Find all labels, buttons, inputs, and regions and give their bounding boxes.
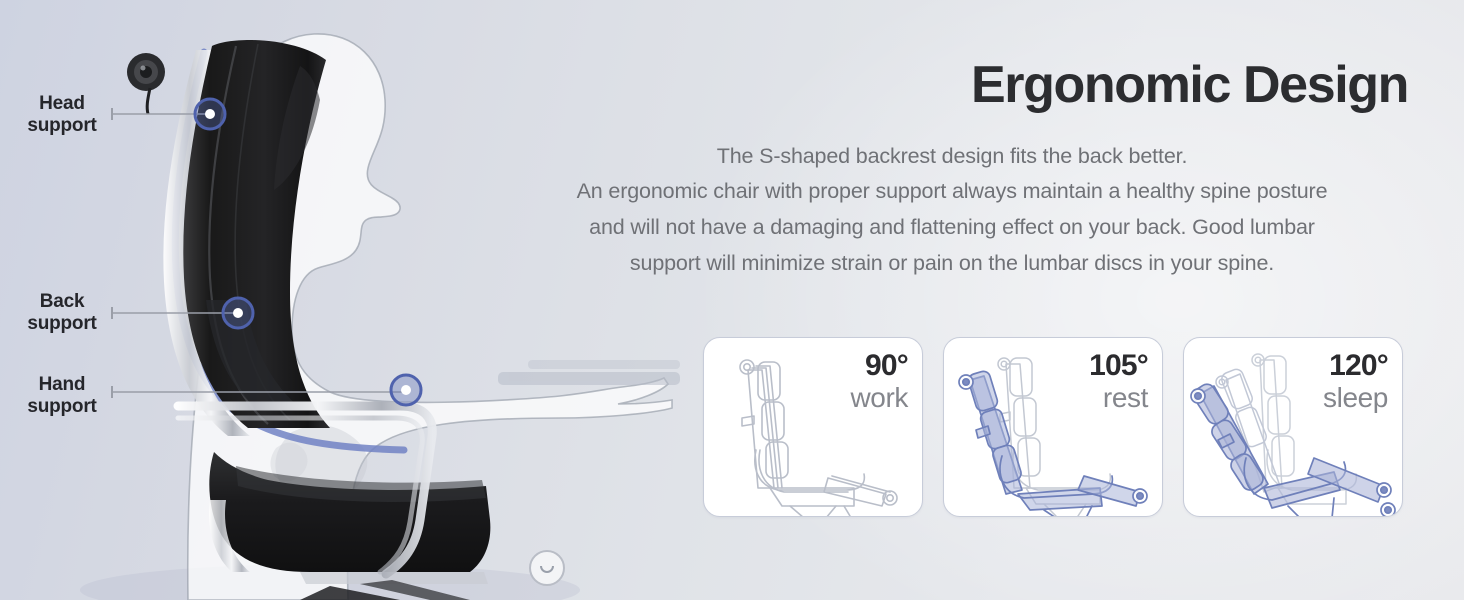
paragraph-line-4: support will minimize strain or pain on … <box>496 246 1408 282</box>
posture-mode-rest: rest <box>1089 382 1148 413</box>
posture-degree-rest: 105° <box>1089 350 1148 382</box>
callout-hand-line1: Hand <box>6 374 118 396</box>
callout-back-line2: support <box>6 313 118 335</box>
callout-back-line1: Back <box>6 291 118 313</box>
callout-back-support: Back support <box>6 291 118 336</box>
marker-hand-support <box>391 375 421 405</box>
posture-card-label-work: 90° work <box>850 350 908 414</box>
posture-card-work[interactable]: 90° work <box>703 337 923 517</box>
posture-card-label-sleep: 120° sleep <box>1323 350 1388 414</box>
marker-head-support <box>195 99 225 129</box>
callout-head-line2: support <box>6 115 118 137</box>
posture-card-label-rest: 105° rest <box>1089 350 1148 414</box>
posture-card-rest[interactable]: 105° rest <box>943 337 1163 517</box>
posture-card-sleep[interactable]: 120° sleep <box>1183 337 1403 517</box>
posture-mode-sleep: sleep <box>1323 382 1388 413</box>
posture-degree-sleep: 120° <box>1323 350 1388 382</box>
posture-card-row: 90° work <box>703 337 1403 517</box>
posture-mode-work: work <box>850 382 908 413</box>
callout-head-line1: Head <box>6 93 118 115</box>
callout-hand-line2: support <box>6 396 118 418</box>
callout-hand-support: Hand support <box>6 374 118 419</box>
posture-degree-work: 90° <box>850 350 908 382</box>
paragraph-line-1: The S-shaped backrest design fits the ba… <box>496 139 1408 175</box>
page-title: Ergonomic Design <box>496 58 1408 113</box>
callout-head-support: Head support <box>6 93 118 138</box>
paragraph-line-3: and will not have a damaging and flatten… <box>496 210 1408 246</box>
marker-back-support <box>223 298 253 328</box>
description-paragraph: The S-shaped backrest design fits the ba… <box>496 139 1408 283</box>
paragraph-line-2: An ergonomic chair with proper support a… <box>496 174 1408 210</box>
ergonomic-design-banner: Head support Back support Hand support E… <box>0 0 1464 600</box>
desk-surface <box>498 360 680 385</box>
copy-block: Ergonomic Design The S-shaped backrest d… <box>496 0 1408 282</box>
